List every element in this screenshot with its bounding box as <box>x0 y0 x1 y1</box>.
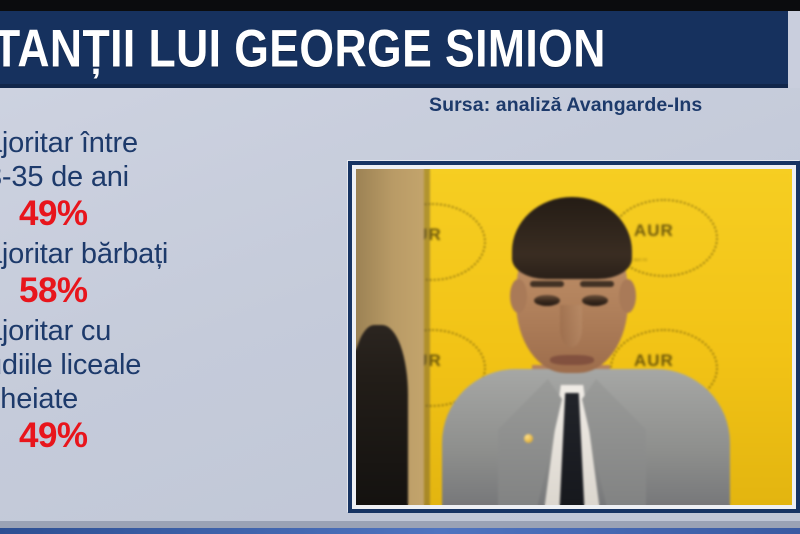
subject-nose <box>560 305 582 347</box>
top-letterbox-bar <box>0 0 800 11</box>
stat-label-line: udiile liceale <box>0 348 316 382</box>
subject-eye-right <box>582 295 608 306</box>
stat-label-line: ajoritar bărbați <box>0 237 316 271</box>
news-infographic-screen: OTANȚII LUI GEORGE SIMION Sursa: analiză… <box>0 0 800 534</box>
bottom-accent-bar <box>0 528 800 534</box>
photo-foreground-silhouette <box>356 325 408 505</box>
subject-eyebrow-left <box>530 281 564 287</box>
stat-block-age: ajoritar între 8-35 de ani 49% <box>0 126 316 234</box>
politician-photo: AUR aur.ro AUR aur.ro AUR aur.ro AUR aur… <box>356 169 792 505</box>
statistics-column: ajoritar între 8-35 de ani 49% ajoritar … <box>0 126 316 459</box>
stat-block-education: ajoritar cu udiile liceale cheiate 49% <box>0 314 316 456</box>
aur-logo: AUR aur.ro <box>634 221 674 262</box>
stat-label-line: ajoritar cu <box>0 314 316 348</box>
aur-logo-text: AUR <box>634 221 674 240</box>
headline-banner: OTANȚII LUI GEORGE SIMION <box>0 11 788 88</box>
bottom-divider-bar <box>0 521 800 528</box>
subject-ear-left <box>510 279 527 313</box>
stat-block-gender: ajoritar bărbați 58% <box>0 237 316 311</box>
source-attribution: Sursa: analiză Avangarde-Ins <box>429 94 702 117</box>
stat-value-age: 49% <box>0 194 316 234</box>
subject-eye-left <box>534 295 560 306</box>
photo-wall-panel-edge <box>424 169 430 505</box>
photo-frame: AUR aur.ro AUR aur.ro AUR aur.ro AUR aur… <box>348 161 800 513</box>
stat-value-gender: 58% <box>0 271 316 311</box>
aur-logo-subtext: aur.ro <box>634 257 674 262</box>
stat-label-line: ajoritar între <box>0 126 316 160</box>
subject-lapel-pin <box>524 434 533 443</box>
subject-ear-right <box>619 279 636 313</box>
photo-inner-border: AUR aur.ro AUR aur.ro AUR aur.ro AUR aur… <box>352 165 796 509</box>
stat-label-line: 8-35 de ani <box>0 160 316 194</box>
stat-value-education: 49% <box>0 416 316 456</box>
subject-eyebrow-right <box>580 281 614 287</box>
aur-logo-text: AUR <box>634 351 674 370</box>
stat-label-line: cheiate <box>0 382 316 416</box>
headline-title: OTANȚII LUI GEORGE SIMION <box>0 22 606 75</box>
subject-mouth <box>550 355 594 365</box>
